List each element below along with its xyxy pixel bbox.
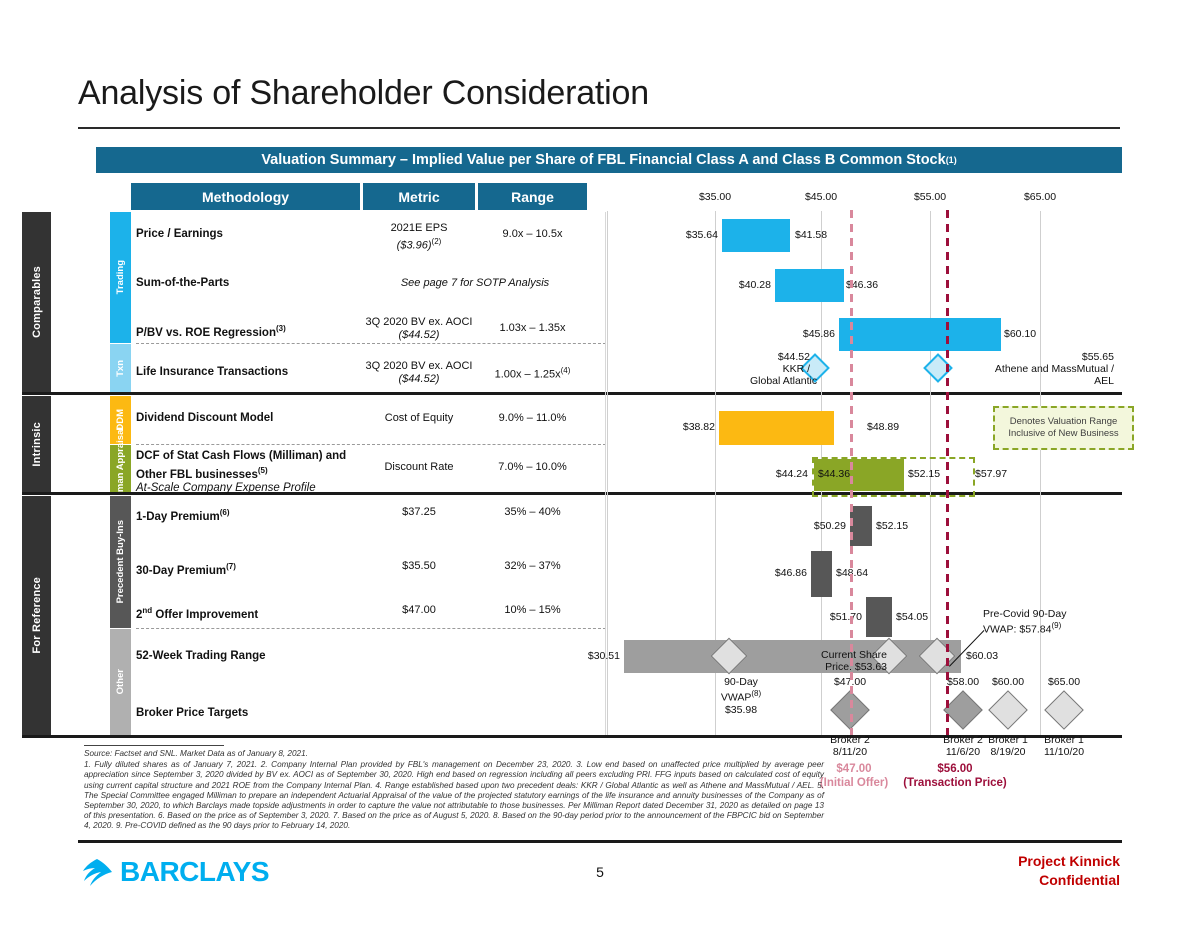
subgroup-band-txn: Txn: [110, 344, 131, 392]
row-range-pbv-roe-regression: 1.03x – 1.35x: [478, 322, 587, 334]
row-label-dividend-discount-model: Dividend Discount Model: [136, 412, 361, 426]
bar-high-price-earnings: $41.58: [795, 229, 827, 241]
confidential-notice: Project Kinnick Confidential: [1018, 852, 1120, 890]
axis-tick-label-35: $35.00: [699, 191, 731, 203]
row-range-price-earnings: 9.0x – 10.5x: [478, 228, 587, 240]
group-band-intrinsic: Intrinsic: [22, 396, 51, 492]
row-metric-dcf-stat-cash-flows: Discount Rate: [363, 461, 475, 474]
broker-label-3: Broker 18/19/20: [988, 734, 1028, 758]
row-metric-pbv-roe-regression: 3Q 2020 BV ex. AOCI ($44.52): [363, 316, 475, 342]
banner-text: Valuation Summary – Implied Value per Sh…: [261, 152, 945, 168]
column-header-methodology: Methodology: [131, 183, 360, 210]
row-metric-30-day-premium: $35.50: [363, 560, 475, 573]
group-label-intrinsic: Intrinsic: [31, 422, 43, 467]
subgroup-band-trading: Trading: [110, 212, 131, 343]
subgroup-band-precedent: Precedent Buy-Ins: [110, 496, 131, 628]
broker-label-4: Broker 111/10/20: [1044, 734, 1084, 758]
gridline-65: [1040, 211, 1041, 735]
row-label-life-insurance-transactions: Life Insurance Transactions: [136, 366, 361, 380]
valuation-summary-banner: Valuation Summary – Implied Value per Sh…: [96, 147, 1122, 173]
bar-low-1-day-premium: $50.29: [814, 520, 846, 532]
row-label-1-day-premium: 1-Day Premium(6): [136, 506, 361, 524]
bar-high-dividend-discount-model: $48.89: [867, 421, 899, 433]
row-range-30-day-premium: 32% – 37%: [478, 560, 587, 572]
row-divider-txn: [136, 343, 606, 344]
footnote-source: Source: Factset and SNL. Market Data as …: [84, 749, 824, 759]
axis-tick-label-55: $55.00: [914, 191, 946, 203]
group-label-comparables: Comparables: [31, 266, 43, 338]
bar-low-52-week: $30.51: [588, 650, 620, 662]
row-label-2nd-offer-improvement: 2nd Offer Improvement: [136, 604, 361, 622]
bar-2nd-offer-improvement: [866, 597, 892, 637]
row-label-sum-of-the-parts: Sum-of-the-Parts: [136, 277, 361, 291]
label-90-day-vwap: 90-Day VWAP(8) $35.98: [691, 676, 791, 716]
row-label-pbv-roe-regression: P/BV vs. ROE Regression(3): [136, 322, 361, 340]
subgroup-label-trading: Trading: [116, 260, 126, 294]
group-band-comparables: Comparables: [22, 212, 51, 392]
row-metric-life-insurance-transactions: 3Q 2020 BV ex. AOCI ($44.52): [363, 360, 475, 386]
bar-low-pbv-roe-regression: $45.86: [803, 328, 835, 340]
row-label-broker-price-targets: Broker Price Targets: [136, 707, 361, 721]
row-label-30-day-premium: 30-Day Premium(7): [136, 560, 361, 578]
row-range-life-insurance-transactions: 1.00x – 1.25x(4): [478, 366, 587, 381]
valuation-chart: $35.00 $45.00 $55.00 $65.00 $35.64 $41.5…: [600, 183, 1122, 735]
label-athene-massmutual-ael: $55.65 Athene and MassMutual / AEL: [949, 351, 1114, 387]
subgroup-label-precedent: Precedent Buy-Ins: [116, 520, 126, 603]
row-metric-price-earnings: 2021E EPS ($3.96)(2): [363, 222, 475, 253]
bar-high-52-week: $60.03: [966, 650, 998, 662]
footnotes: Source: Factset and SNL. Market Data as …: [84, 749, 824, 832]
slide-root: Analysis of Shareholder Consideration Va…: [0, 0, 1200, 927]
axis-tick-label-45: $45.00: [805, 191, 837, 203]
footnote-body: 1. Fully diluted shares as of January 7,…: [84, 760, 824, 830]
row-range-1-day-premium: 35% – 40%: [478, 506, 587, 518]
group-band-for-reference: For Reference: [22, 496, 51, 735]
row-label-price-earnings: Price / Earnings: [136, 228, 361, 242]
broker-value-2: $58.00: [947, 676, 979, 688]
row-range-2nd-offer-improvement: 10% – 15%: [478, 604, 587, 616]
callout-valuation-range-new-business: Denotes Valuation Range Inclusive of New…: [993, 406, 1134, 450]
footnote-divider: [84, 745, 224, 746]
bar-price-earnings: [722, 219, 790, 252]
reference-line-transaction-price: [946, 210, 949, 735]
row-metric-2nd-offer-improvement: $47.00: [363, 604, 475, 617]
broker-label-2: Broker 211/6/20: [943, 734, 983, 758]
reference-line-initial-offer: [850, 210, 853, 735]
broker-value-4: $65.00: [1048, 676, 1080, 688]
row-label-52-week-trading-range: 52-Week Trading Range: [136, 650, 361, 664]
subgroup-band-milliman: Milliman Appraisal: [110, 445, 131, 492]
bar-pbv-roe-regression: [839, 318, 1001, 351]
label-kkr-global-atlantic: $44.52 KKR / Global Atlantic: [750, 351, 810, 387]
bar-dividend-discount-model: [719, 411, 834, 445]
bar-high-dcf-inner: $52.15: [908, 468, 940, 480]
broker-label-1: Broker 28/11/20: [830, 734, 870, 758]
bar-high-1-day-premium: $52.15: [876, 520, 908, 532]
row-divider-milliman: [136, 444, 606, 445]
row-range-dividend-discount-model: 9.0% – 11.0%: [478, 412, 587, 424]
bar-low-30-day-premium: $46.86: [775, 567, 807, 579]
bar-30-day-premium: [811, 551, 832, 597]
diamond-broker-2: [943, 690, 983, 730]
bar-low-dcf-outer: $44.24: [776, 468, 808, 480]
column-header-range: Range: [478, 183, 587, 210]
broker-value-3: $60.00: [992, 676, 1024, 688]
bar-low-price-earnings: $35.64: [686, 229, 718, 241]
banner-footnote-marker: (1): [946, 155, 957, 165]
diamond-broker-4: [1044, 690, 1084, 730]
label-current-share-price: Current Share Price: $53.63: [787, 649, 887, 673]
label-precovid-90-day-vwap: Pre-Covid 90-Day VWAP: $57.84(9): [983, 608, 1098, 636]
row-metric-dividend-discount-model: Cost of Equity: [363, 412, 475, 425]
axis-tick-label-65: $65.00: [1024, 191, 1056, 203]
bar-1-day-premium: [850, 506, 872, 546]
title-divider: [78, 127, 1120, 129]
bar-low-dividend-discount-model: $38.82: [683, 421, 715, 433]
subgroup-label-txn: Txn: [116, 360, 126, 377]
row-divider-other: [136, 628, 606, 629]
group-label-for-reference: For Reference: [31, 577, 43, 654]
footer-divider: [78, 840, 1122, 843]
bar-sum-of-the-parts: [775, 269, 844, 302]
page-title: Analysis of Shareholder Consideration: [78, 74, 649, 113]
row-metric-sum-of-the-parts: See page 7 for SOTP Analysis: [363, 277, 587, 289]
price-tag-transaction-price: $56.00(Transaction Price): [903, 762, 1007, 790]
column-header-metric: Metric: [363, 183, 475, 210]
bar-high-pbv-roe-regression: $60.10: [1004, 328, 1036, 340]
price-tag-initial-offer: $47.00(Initial Offer): [820, 762, 888, 790]
row-metric-1-day-premium: $37.25: [363, 506, 475, 519]
subgroup-label-other: Other: [116, 669, 126, 694]
bar-low-sum-of-the-parts: $40.28: [739, 279, 771, 291]
bar-low-2nd-offer-improvement: $51.70: [830, 611, 862, 623]
row-label-dcf-stat-cash-flows: DCF of Stat Cash Flows (Milliman) and Ot…: [136, 450, 361, 495]
diamond-broker-3: [988, 690, 1028, 730]
bar-high-dcf-outer: $57.97: [975, 468, 1007, 480]
bar-high-2nd-offer-improvement: $54.05: [896, 611, 928, 623]
subgroup-band-other: Other: [110, 629, 131, 735]
bar-low-dcf-inner: $44.36: [818, 468, 850, 480]
row-range-dcf-stat-cash-flows: 7.0% – 10.0%: [478, 461, 587, 473]
